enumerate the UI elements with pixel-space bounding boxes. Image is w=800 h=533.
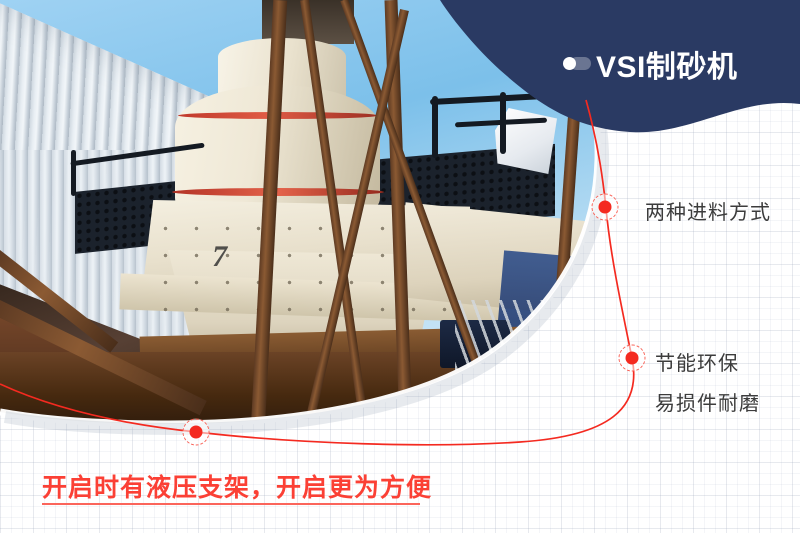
- machine-red-band-lower: [172, 188, 384, 196]
- promo-banner-page: 7: [0, 0, 800, 533]
- red-dot-marker-2[interactable]: [626, 352, 639, 365]
- handrail-left-post: [71, 150, 76, 196]
- bottom-caption: 开启时有液压支架，开启更为方便: [42, 468, 432, 504]
- page-title: VSI制砂机: [596, 42, 737, 86]
- feature-label-2: 节能环保: [655, 347, 739, 376]
- bottom-caption-underline: [42, 503, 420, 505]
- bullet-dot-icon: [563, 57, 591, 70]
- handrail-right-post-1: [432, 96, 438, 158]
- red-dot-marker-1[interactable]: [599, 201, 612, 214]
- feature-label-1: 两种进料方式: [645, 196, 771, 225]
- feature-label-3: 易损件耐磨: [655, 387, 760, 416]
- red-dot-marker-3[interactable]: [190, 426, 203, 439]
